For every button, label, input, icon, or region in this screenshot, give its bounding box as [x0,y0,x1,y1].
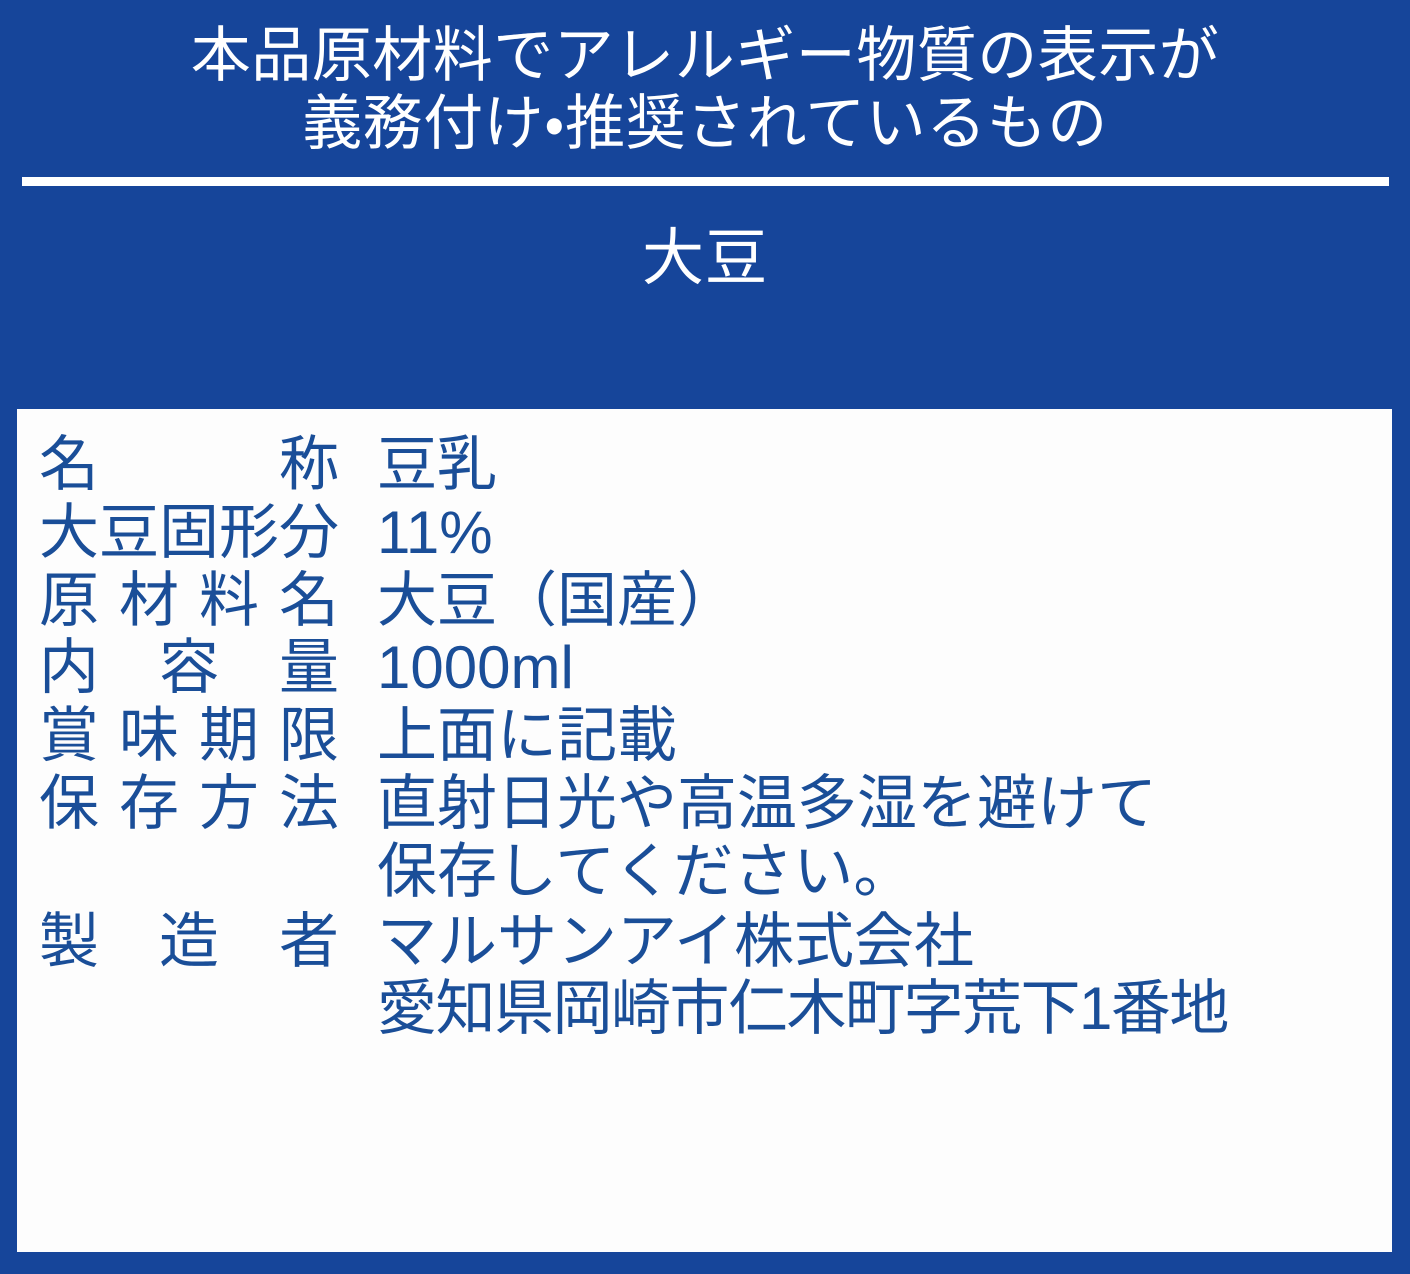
info-row: 名称豆乳 [39,431,1382,499]
info-value-line: マルサンアイ株式会社 [377,908,1228,976]
info-row-value: 豆乳 [339,431,497,499]
label-char: 豆 [99,499,159,567]
label-char: 料 [199,567,259,635]
info-row-value: マルサンアイ株式会社愛知県岡崎市仁木町字荒下1番地 [339,908,1228,1044]
label-char: 名 [39,431,99,499]
label-char: 法 [279,770,339,838]
info-value-line: 11% [377,499,493,567]
info-row-value: 1000ml [339,634,574,702]
info-row: 大豆固形分11% [39,499,1382,567]
info-row: 原材料名大豆（国産） [39,567,1382,635]
info-row-label: 賞味期限 [39,702,339,770]
banner-divider [22,177,1389,186]
label-char: 者 [279,908,339,976]
label-char: 固 [159,499,219,567]
label-char: 賞 [39,702,99,770]
info-row-value: 大豆（国産） [339,567,737,635]
info-value-line: 愛知県岡崎市仁木町字荒下1番地 [377,975,1228,1043]
info-row: 内容量1000ml [39,634,1382,702]
label-char: 造 [159,908,219,976]
label-char: 内 [39,634,99,702]
label-char: 期 [199,702,259,770]
info-row: 賞味期限上面に記載 [39,702,1382,770]
info-value-line: 大豆（国産） [377,567,737,635]
label-char: 存 [119,770,179,838]
label-char: 形 [219,499,279,567]
label-char: 原 [39,567,99,635]
label-char: 容 [159,634,219,702]
info-row: 保存方法直射日光や高温多湿を避けて保存してください。 [39,770,1382,906]
info-value-line: 豆乳 [377,431,497,499]
label-char: 製 [39,908,99,976]
label-char: 名 [279,567,339,635]
label-char: 材 [119,567,179,635]
product-info-panel: 名称豆乳大豆固形分11%原材料名大豆（国産）内容量1000ml賞味期限上面に記載… [17,409,1392,1252]
label-char: 限 [279,702,339,770]
info-value-line: 直射日光や高温多湿を避けて [377,770,1157,838]
label-char: 大 [39,499,99,567]
info-value-line: 上面に記載 [377,702,677,770]
info-row-label: 内容量 [39,634,339,702]
label-char: 保 [39,770,99,838]
info-row-label: 名称 [39,431,339,499]
label-char: 分 [279,499,339,567]
label-char: 量 [279,634,339,702]
info-row-label: 原材料名 [39,567,339,635]
allergen-heading: 本品原材料でアレルギー物質の表示が 義務付け・推奨されているもの [20,22,1390,159]
label-char: 称 [279,431,339,499]
allergen-list: 大豆 [20,186,1390,290]
label-char: 方 [199,770,259,838]
info-row-value: 上面に記載 [339,702,677,770]
info-row-label: 大豆固形分 [39,499,339,567]
info-row-label: 製造者 [39,908,339,976]
label-char: 味 [119,702,179,770]
info-value-line: 1000ml [377,634,574,702]
info-value-line: 保存してください。 [377,838,1157,906]
info-row-label: 保存方法 [39,770,339,838]
info-row-value: 11% [339,499,493,567]
info-row-value: 直射日光や高温多湿を避けて保存してください。 [339,770,1157,906]
allergen-banner: 本品原材料でアレルギー物質の表示が 義務付け・推奨されているもの 大豆 [0,0,1410,290]
info-row: 製造者マルサンアイ株式会社愛知県岡崎市仁木町字荒下1番地 [39,908,1382,1044]
